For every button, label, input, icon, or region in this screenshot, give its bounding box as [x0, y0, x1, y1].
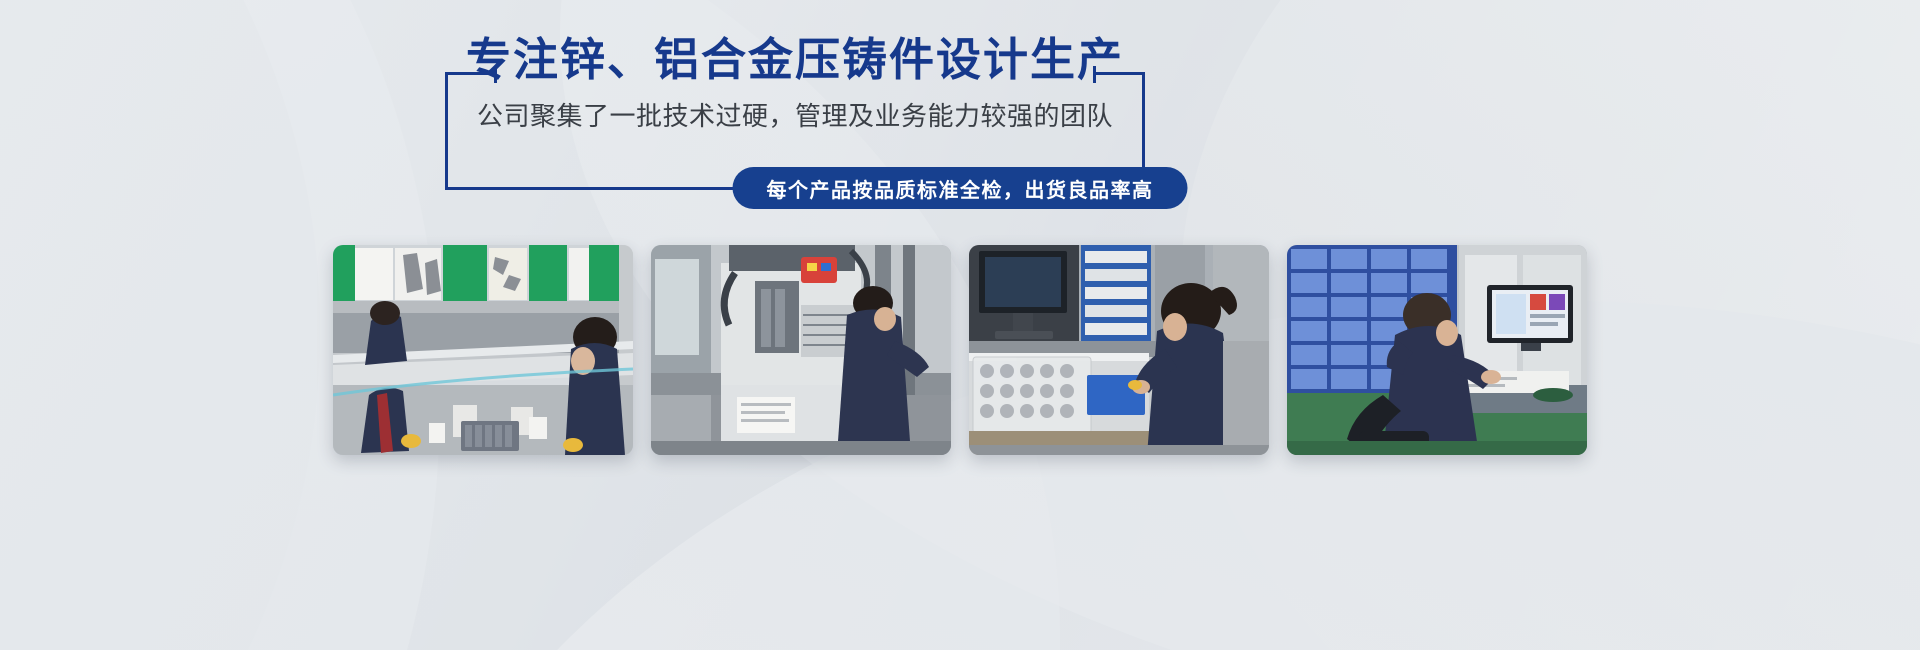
photo-1-image	[333, 245, 633, 455]
page-title: 专注锌、铝合金压铸件设计生产	[448, 37, 1142, 82]
photo-strip	[0, 245, 1920, 455]
photo-4-image	[1287, 245, 1587, 455]
photo-card-3[interactable]	[969, 245, 1269, 455]
photo-2-image	[651, 245, 951, 455]
photo-card-2[interactable]	[651, 245, 951, 455]
photo-card-4[interactable]	[1287, 245, 1587, 455]
photo-3-image	[969, 245, 1269, 455]
page-subtitle: 公司聚集了一批技术过硬，管理及业务能力较强的团队	[448, 103, 1142, 129]
quality-badge: 每个产品按品质标准全检，出货良品率高	[733, 167, 1188, 209]
promo-banner: 专注锌、铝合金压铸件设计生产 公司聚集了一批技术过硬，管理及业务能力较强的团队 …	[0, 0, 1920, 650]
photo-card-1[interactable]	[333, 245, 633, 455]
